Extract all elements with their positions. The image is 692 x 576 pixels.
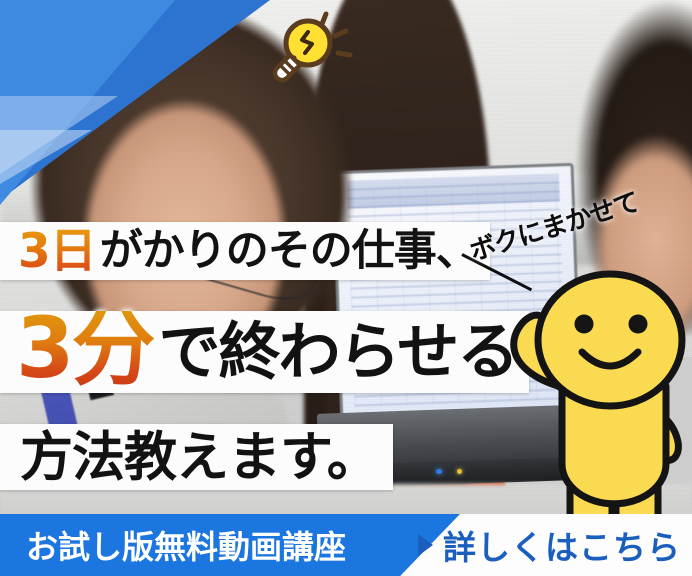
headline-bar-2: 3分 で終わらせる (0, 311, 529, 393)
advertisement-banner: 3日 がかりのその仕事、 3分 で終わらせる 方法教えます。 ボクにまかせて (0, 0, 692, 576)
cta-right-label: 詳しくはこちら (443, 521, 681, 569)
headline-bar-3: 方法教えます。 (0, 424, 393, 490)
headline-1-rest: がかりのその仕事、 (100, 230, 478, 273)
yellow-mascot-character (498, 236, 692, 546)
cta-link[interactable]: 詳しくはこちら (418, 514, 681, 576)
lightbulb-icon (260, 10, 356, 88)
headline-bar-1: 3日 がかりのその仕事、 (0, 222, 490, 280)
headline-3-text: 方法教えます。 (20, 431, 379, 484)
play-arrow-icon (418, 534, 433, 556)
cta-bar[interactable]: お試し版無料動画講座 詳しくはこちら (0, 514, 692, 576)
headline-1-highlight: 3日 (18, 228, 100, 275)
headline-2-highlight: 3分 (16, 311, 158, 387)
headline-2-rest: で終わらせる (158, 321, 517, 383)
cta-left-label: お試し版無料動画講座 (26, 514, 346, 576)
